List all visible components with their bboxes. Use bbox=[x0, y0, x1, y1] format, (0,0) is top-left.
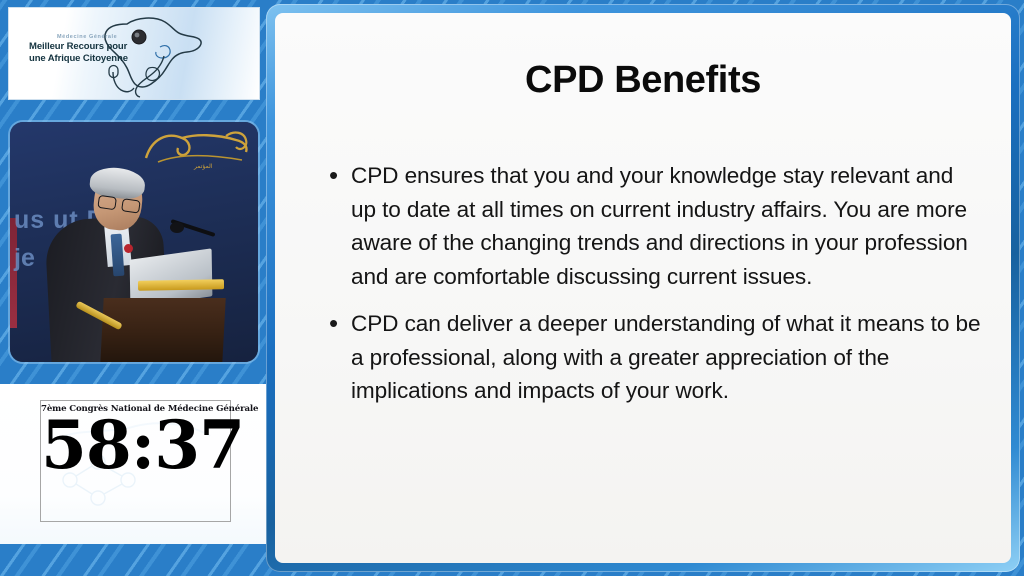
countdown-timer-panel: 7ème Congrès National de Médecine Généra… bbox=[0, 384, 266, 544]
podium bbox=[100, 298, 225, 362]
bullet-text: CPD ensures that you and your knowledge … bbox=[351, 159, 981, 293]
presentation-stage: Médecine Générale Meilleur Recours pour … bbox=[0, 0, 1024, 576]
list-item: • CPD ensures that you and your knowledg… bbox=[327, 159, 981, 293]
sidebar: Médecine Générale Meilleur Recours pour … bbox=[0, 0, 266, 576]
microphone-head bbox=[170, 222, 184, 233]
timer-display-box: 7ème Congrès National de Médecine Généra… bbox=[40, 400, 231, 522]
svg-text:المؤتمر: المؤتمر bbox=[193, 163, 213, 170]
slide-content: CPD Benefits • CPD ensures that you and … bbox=[275, 13, 1011, 563]
page-title: CPD Benefits bbox=[275, 59, 1011, 102]
logo-tagline-line2: une Afrique Citoyenne bbox=[29, 53, 169, 65]
backdrop-text-line2: je bbox=[14, 244, 35, 273]
podium-gold-trim bbox=[138, 279, 224, 290]
logo-tagline-line1: Meilleur Recours pour bbox=[29, 41, 169, 53]
congress-logo-panel: Médecine Générale Meilleur Recours pour … bbox=[8, 7, 260, 100]
list-item: • CPD can deliver a deeper understanding… bbox=[327, 307, 981, 408]
logo-tagline: Meilleur Recours pour une Afrique Citoye… bbox=[29, 41, 169, 65]
bullet-text: CPD can deliver a deeper understanding o… bbox=[351, 307, 981, 408]
bullet-marker-icon: • bbox=[327, 159, 351, 192]
congress-logo-text: Médecine Générale Meilleur Recours pour … bbox=[29, 34, 169, 65]
logo-superscript: Médecine Générale bbox=[57, 34, 169, 40]
bullet-marker-icon: • bbox=[327, 307, 351, 340]
gold-ornament-icon: المؤتمر bbox=[138, 128, 254, 170]
speaker-video-panel[interactable]: المؤتمر us ut P je bbox=[10, 122, 258, 362]
timer-digits: 58:37 bbox=[41, 412, 230, 478]
bullet-list: • CPD ensures that you and your knowledg… bbox=[327, 159, 981, 422]
speaker-lapel-flower bbox=[124, 244, 133, 253]
slide-frame: CPD Benefits • CPD ensures that you and … bbox=[266, 4, 1020, 572]
